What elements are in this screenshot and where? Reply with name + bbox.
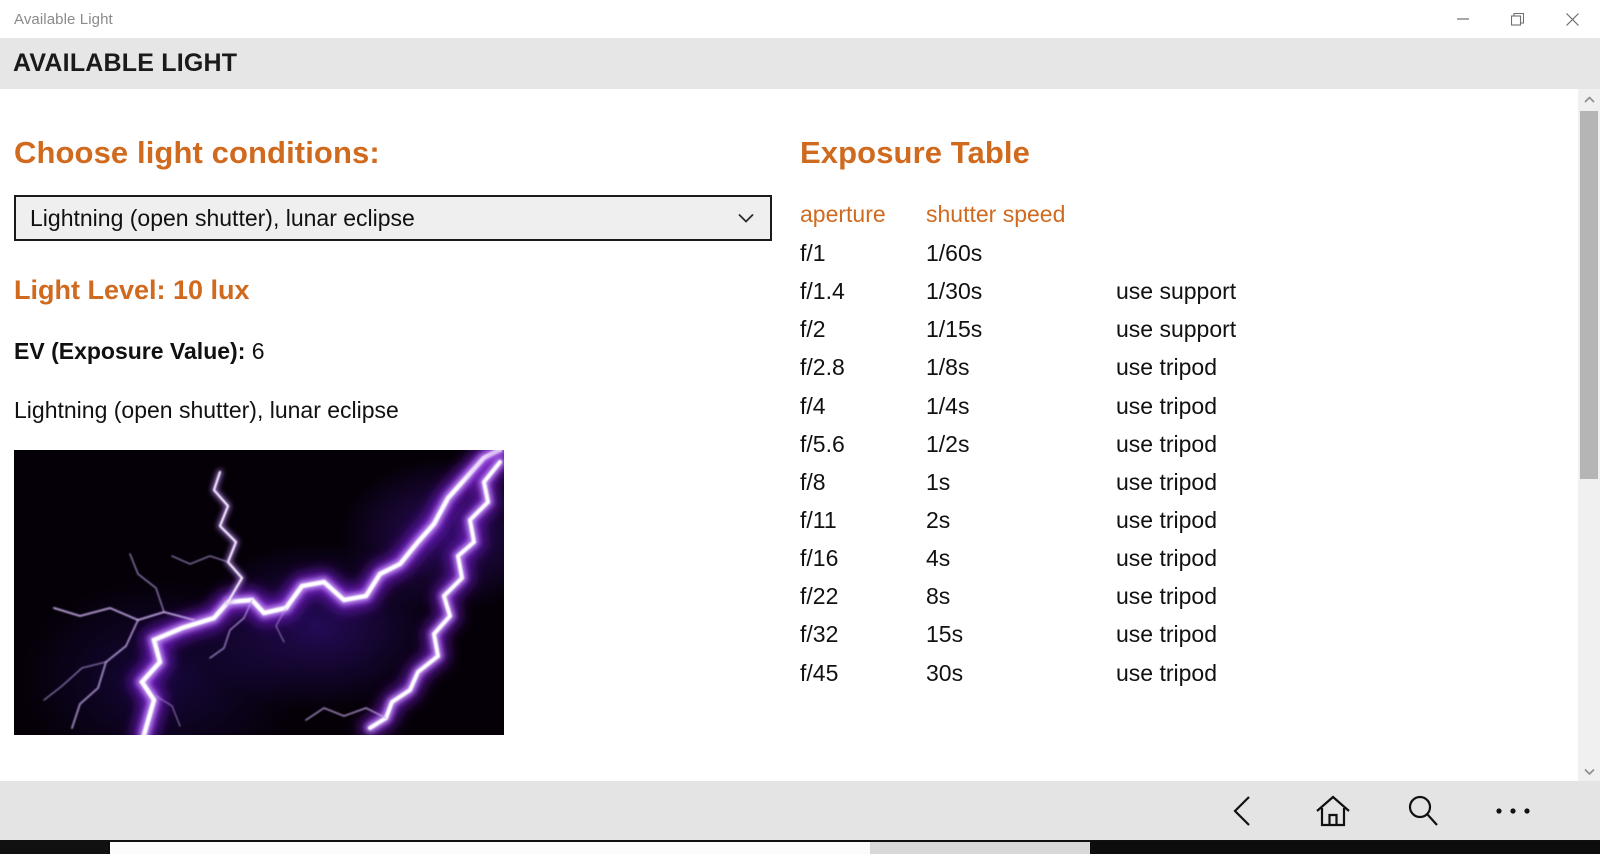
left-column: Choose light conditions: Lightning (open… (0, 89, 790, 735)
column-header-aperture: aperture (800, 201, 926, 234)
horizontal-scrollbar-trailing (870, 842, 1090, 854)
lightning-photo (14, 450, 504, 735)
condition-caption: Lightning (open shutter), lunar eclipse (14, 397, 790, 424)
table-row: f/21/15suse support (800, 310, 1376, 348)
cell-shutter-speed: 1/8s (926, 348, 1116, 386)
app-window: Available Light AVAILABLE (0, 0, 1600, 854)
cell-aperture: f/2 (800, 310, 926, 348)
chevron-down-icon-scroll (1584, 768, 1595, 775)
scroll-down-button[interactable] (1578, 761, 1600, 781)
cell-shutter-speed: 15s (926, 615, 1116, 653)
light-conditions-selected-value: Lightning (open shutter), lunar eclipse (16, 205, 415, 232)
cell-aperture: f/32 (800, 615, 926, 653)
cell-shutter-speed: 1/15s (926, 310, 1116, 348)
cell-note: use tripod (1116, 577, 1376, 615)
cell-note: use support (1116, 310, 1376, 348)
light-level-heading: Light Level: 10 lux (14, 275, 790, 306)
table-row: f/228suse tripod (800, 577, 1376, 615)
cell-note (1116, 234, 1376, 272)
page-title: AVAILABLE LIGHT (0, 49, 237, 78)
table-row: f/112suse tripod (800, 501, 1376, 539)
ev-label: EV (Exposure Value): (14, 338, 245, 364)
chevron-up-icon (1584, 96, 1595, 103)
chevron-down-icon (736, 212, 756, 225)
exposure-table: aperture shutter speed f/11/60sf/1.41/30… (800, 201, 1376, 692)
content-area: Choose light conditions: Lightning (open… (0, 89, 1600, 781)
more-icon (1495, 805, 1531, 817)
minimize-button[interactable] (1435, 0, 1490, 38)
cell-aperture: f/1 (800, 234, 926, 272)
window-controls (1435, 0, 1600, 38)
back-button[interactable] (1198, 781, 1288, 840)
cell-note: use tripod (1116, 654, 1376, 692)
table-row: f/1.41/30suse support (800, 272, 1376, 310)
window-title: Available Light (0, 11, 113, 28)
back-icon (1228, 794, 1258, 828)
cell-note: use tripod (1116, 463, 1376, 501)
table-row: f/2.81/8suse tripod (800, 348, 1376, 386)
ev-value: 6 (252, 338, 265, 364)
restore-icon (1511, 13, 1524, 26)
search-icon (1406, 794, 1440, 828)
light-conditions-dropdown[interactable]: Lightning (open shutter), lunar eclipse (14, 195, 772, 241)
cell-shutter-speed: 4s (926, 539, 1116, 577)
cell-shutter-speed: 1/60s (926, 234, 1116, 272)
cell-note: use tripod (1116, 539, 1376, 577)
cell-aperture: f/22 (800, 577, 926, 615)
content-scroll-region: Choose light conditions: Lightning (open… (0, 89, 1578, 781)
column-header-note (1116, 201, 1376, 234)
scroll-up-button[interactable] (1578, 89, 1600, 109)
close-icon (1566, 13, 1579, 26)
page-header: AVAILABLE LIGHT (0, 38, 1600, 89)
table-row: f/11/60s (800, 234, 1376, 272)
table-row: f/81suse tripod (800, 463, 1376, 501)
column-header-shutter-speed: shutter speed (926, 201, 1116, 234)
cell-shutter-speed: 1/2s (926, 425, 1116, 463)
cell-note: use tripod (1116, 425, 1376, 463)
exposure-table-head: aperture shutter speed (800, 201, 1376, 234)
table-row: f/5.61/2suse tripod (800, 425, 1376, 463)
cell-note: use tripod (1116, 387, 1376, 425)
cell-aperture: f/5.6 (800, 425, 926, 463)
cell-aperture: f/8 (800, 463, 926, 501)
cell-note: use tripod (1116, 348, 1376, 386)
cell-shutter-speed: 30s (926, 654, 1116, 692)
cell-aperture: f/1.4 (800, 272, 926, 310)
two-column-layout: Choose light conditions: Lightning (open… (0, 89, 1578, 735)
cell-aperture: f/45 (800, 654, 926, 692)
table-row: f/164suse tripod (800, 539, 1376, 577)
exposure-table-heading: Exposure Table (800, 135, 1578, 171)
more-button[interactable] (1468, 781, 1558, 840)
cell-shutter-speed: 8s (926, 577, 1116, 615)
cell-note: use tripod (1116, 615, 1376, 653)
table-row: f/3215suse tripod (800, 615, 1376, 653)
cell-aperture: f/2.8 (800, 348, 926, 386)
lightning-bolt-illustration (14, 450, 504, 735)
cell-aperture: f/16 (800, 539, 926, 577)
home-icon (1315, 794, 1351, 828)
vertical-scrollbar-thumb[interactable] (1580, 111, 1598, 479)
search-button[interactable] (1378, 781, 1468, 840)
cell-aperture: f/4 (800, 387, 926, 425)
app-bottom-bar (0, 781, 1600, 840)
title-bar: Available Light (0, 0, 1600, 38)
exposure-value-line: EV (Exposure Value): 6 (14, 338, 790, 365)
horizontal-scrollbar-thumb[interactable] (110, 842, 870, 854)
vertical-scrollbar[interactable] (1578, 89, 1600, 781)
cell-shutter-speed: 2s (926, 501, 1116, 539)
cell-shutter-speed: 1/30s (926, 272, 1116, 310)
minimize-icon (1457, 13, 1469, 25)
home-button[interactable] (1288, 781, 1378, 840)
cell-note: use tripod (1116, 501, 1376, 539)
cell-note: use support (1116, 272, 1376, 310)
table-header-row: aperture shutter speed (800, 201, 1376, 234)
cell-shutter-speed: 1/4s (926, 387, 1116, 425)
right-column: Exposure Table aperture shutter speed f/… (790, 89, 1578, 735)
cell-shutter-speed: 1s (926, 463, 1116, 501)
table-row: f/4530suse tripod (800, 654, 1376, 692)
exposure-table-body: f/11/60sf/1.41/30suse supportf/21/15suse… (800, 234, 1376, 692)
table-row: f/41/4suse tripod (800, 387, 1376, 425)
close-button[interactable] (1545, 0, 1600, 38)
choose-light-conditions-heading: Choose light conditions: (14, 135, 790, 171)
cell-aperture: f/11 (800, 501, 926, 539)
horizontal-scrollbar[interactable] (0, 840, 1600, 854)
restore-button[interactable] (1490, 0, 1545, 38)
